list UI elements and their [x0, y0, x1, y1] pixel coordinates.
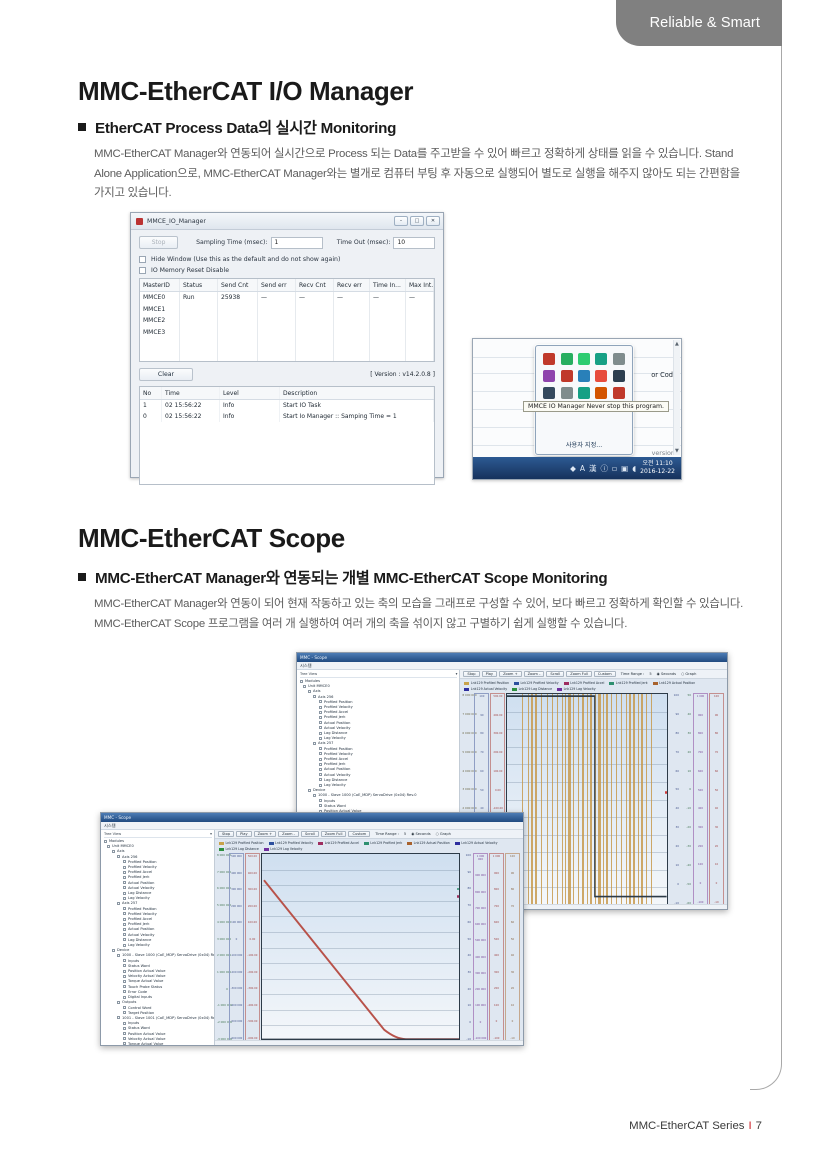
checkbox-icon[interactable]	[313, 695, 316, 698]
axis-tick-label: 8 000 000	[462, 694, 474, 697]
master-status-grid[interactable]: MasterID Status Send Cnt Send err Recv C…	[139, 278, 435, 362]
table-cell	[180, 315, 218, 327]
axis-tick-label: 6 000 000	[217, 887, 229, 890]
axis-tick-label: 20	[710, 845, 723, 848]
axis-tick-label: -20	[680, 826, 692, 829]
io-memory-reset-checkbox[interactable]	[139, 267, 146, 274]
tree-node-label: Inputs	[324, 799, 335, 803]
legend-item: Lnk129 Profiled Position	[464, 681, 509, 685]
col-max-int: Max Int...	[406, 279, 434, 291]
axis-tick-label: 700	[694, 751, 707, 754]
tray-volume-icon[interactable]: ◖	[632, 464, 636, 473]
log-col-desc: Description	[280, 387, 434, 399]
checkbox-icon[interactable]	[123, 970, 126, 973]
axis-tick-label: 600	[694, 770, 707, 773]
scope-toolbar-button-stop[interactable]: Stop	[218, 831, 234, 838]
col-send-err: Send err	[258, 279, 296, 291]
scope-front-tree[interactable]: ModulesUnit MMCE0AxisAxis 256Profiled Po…	[104, 839, 212, 1045]
checkbox-icon[interactable]	[123, 912, 126, 915]
legend-item: Lnk129 Profiled Velocity	[269, 841, 314, 845]
checkbox-icon[interactable]	[319, 763, 322, 766]
scope-toolbar-button-custom[interactable]: Custom	[348, 831, 370, 838]
axis-tick-label: -400.00	[246, 1004, 259, 1007]
legend-label: Lnk129 Profiled Accel	[325, 841, 359, 845]
scope-back-tree-header: Tree View ▾	[300, 672, 457, 678]
table-cell	[258, 327, 296, 339]
axis-tick-label: 300 000	[474, 972, 487, 975]
checkbox-icon[interactable]	[123, 938, 126, 941]
scope-window-front: MMC - Scope 시스템 Tree View ▾ ModulesUnit …	[100, 812, 524, 1046]
axis-tick-label: 70	[710, 751, 723, 754]
tray-monitor-icon[interactable]: ▣	[621, 464, 628, 473]
axis-tick-label: 6 000 000	[462, 732, 474, 735]
axis-tick-label: -200.00	[246, 971, 259, 974]
tray-app-icon-2[interactable]	[561, 353, 573, 365]
axis-tick-label: 300	[694, 826, 707, 829]
tree-node-label: Inputs	[128, 1021, 139, 1025]
scope-back-menu-system[interactable]: 시스템	[300, 663, 312, 669]
cursor-marker[interactable]	[457, 895, 460, 898]
legend-item: Lnk129 Profiled Velocity	[514, 681, 559, 685]
checkbox-icon[interactable]	[123, 1042, 126, 1045]
table-row[interactable]: MMCE0Run25938—————	[140, 292, 434, 304]
checkbox-icon[interactable]	[319, 804, 322, 807]
legend-item: Lnk129 Profiled Accel	[318, 841, 359, 845]
legend-swatch	[464, 688, 469, 691]
scope-toolbar-button-play[interactable]: Play	[482, 671, 498, 678]
axis-tick-label: 200	[694, 845, 707, 848]
header-badge-label: Reliable & Smart	[650, 15, 760, 31]
checkbox-icon[interactable]	[123, 881, 126, 884]
scope-back-plot[interactable]	[506, 693, 668, 906]
axis-tick-label: 5 000 000	[217, 904, 229, 907]
tray-app-icon-3[interactable]	[578, 353, 590, 365]
tray-app-icon-9[interactable]	[595, 370, 607, 382]
tree-node-label: Actual Velocity	[324, 773, 351, 777]
log-cell: 02 15:56:22	[162, 400, 220, 411]
checkbox-icon[interactable]	[123, 860, 126, 863]
axis-tick-label: 70	[460, 904, 472, 907]
checkbox-icon[interactable]	[123, 996, 126, 999]
checkbox-icon[interactable]	[123, 959, 126, 962]
scope-toolbar-button-zoom-full[interactable]: Zoom Full	[321, 831, 347, 838]
axis-tick-label: 50	[506, 938, 519, 941]
checkbox-icon[interactable]	[319, 752, 322, 755]
log-col-level: Level	[220, 387, 280, 399]
log-row[interactable]: 002 15:56:22InfoStart Io Manager :: Samp…	[140, 411, 434, 422]
scope-radio-seconds[interactable]: ◉ Seconds	[657, 672, 676, 676]
checkbox-icon[interactable]	[303, 685, 306, 688]
tray-app-icon-14[interactable]	[595, 387, 607, 399]
col-recv-err: Recv err	[334, 279, 370, 291]
section-body-1: MMC-EtherCAT Manager와 연동되어 실시간으로 Process…	[94, 145, 744, 204]
tree-node-label: Velocity Actual Value	[128, 1037, 166, 1041]
io-manager-window: MMCE_IO_Manager – □ ✕ Stop Sampling Time…	[130, 212, 444, 478]
tray-app-icon-5[interactable]	[613, 353, 625, 365]
axis-tick-label: -500 000	[230, 1020, 243, 1023]
tray-shield-icon[interactable]: ◆	[570, 464, 576, 473]
vertical-scrollbar[interactable]: ▲ ▼	[673, 340, 680, 455]
table-cell	[334, 315, 370, 327]
axis-tick-label: 800	[490, 888, 503, 891]
axis-tick-label: 10	[680, 770, 692, 773]
axis-tick-label: 7 000 000	[217, 871, 229, 874]
checkbox-icon[interactable]	[319, 711, 322, 714]
scope-front-menu-system[interactable]: 시스템	[104, 823, 116, 829]
tree-node-label: Modules	[109, 839, 124, 843]
checkbox-icon[interactable]	[319, 721, 322, 724]
checkbox-icon[interactable]	[313, 742, 316, 745]
legend-label: Lnk129 Profiled Velocity	[521, 681, 559, 685]
checkbox-icon[interactable]	[123, 886, 126, 889]
checkbox-icon[interactable]	[123, 923, 126, 926]
tree-node[interactable]: 1001 - Slave 1001 (CoE_MDP) ServoDrive (…	[104, 1016, 212, 1021]
table-cell: —	[296, 292, 334, 304]
scope-back-tree[interactable]: ModulesUnit MMCE0AxisAxis 256Profiled Po…	[300, 679, 457, 814]
scope-front-legend: Lnk129 Profiled PositionLnk129 Profiled …	[215, 839, 523, 853]
axis-tick-label: 1 000 000	[217, 971, 229, 974]
axis-tick-label: -100.00	[491, 807, 504, 810]
table-cell	[258, 350, 296, 362]
tree-node-label: Position Actual Value	[128, 969, 165, 973]
checkbox-icon[interactable]	[123, 866, 126, 869]
table-row[interactable]: MMCE1	[140, 304, 434, 316]
close-icon[interactable]: ✕	[426, 216, 440, 226]
tray-network-icon[interactable]: ▫	[612, 464, 617, 473]
tray-app-icon-10[interactable]	[613, 370, 625, 382]
checkbox-icon[interactable]	[107, 845, 110, 848]
footer-series: MMC-EtherCAT Series	[629, 1120, 744, 1132]
axis-tick-label: 500.00	[246, 855, 259, 858]
scope-toolbar-button-custom[interactable]: Custom	[594, 671, 616, 678]
axis-tick-label: 100	[475, 695, 488, 698]
checkbox-icon[interactable]	[319, 706, 322, 709]
hide-window-checkbox-row[interactable]: Hide Window (Use this as the default and…	[139, 256, 435, 263]
clear-button[interactable]: Clear	[139, 368, 193, 381]
tray-tooltip: MMCE IO Manager Never stop this program.	[523, 401, 669, 412]
scope-toolbar-button-play[interactable]: Play	[236, 831, 252, 838]
scope-back-yaxis-r3: 1 0009008007006005004003002001000-100	[693, 693, 708, 906]
bullet-square-icon	[78, 123, 86, 131]
axis-tick-label: 100 000	[474, 1004, 487, 1007]
legend-label: Lnk129 Profiled Jerk	[370, 841, 402, 845]
table-row[interactable]	[140, 350, 434, 362]
tree-node-label: Profiled Velocity	[324, 752, 353, 756]
sampling-time-input[interactable]: 1	[271, 237, 323, 249]
tray-customize-link[interactable]: 사용자 지정...	[536, 440, 632, 449]
axis-tick-label: 0	[680, 788, 692, 791]
maximize-icon[interactable]: □	[410, 216, 424, 226]
io-manager-title: MMCE_IO_Manager	[147, 218, 394, 225]
scope-radio-graph[interactable]: ○ Graph	[681, 672, 696, 676]
checkbox-icon[interactable]	[319, 758, 322, 761]
scroll-down-icon[interactable]: ▼	[675, 448, 679, 454]
checkbox-icon[interactable]	[319, 732, 322, 735]
tray-app-icon-4[interactable]	[595, 353, 607, 365]
table-cell	[334, 327, 370, 339]
checkbox-icon[interactable]	[117, 954, 120, 957]
checkbox-icon[interactable]	[308, 789, 311, 792]
checkbox-icon[interactable]	[117, 902, 120, 905]
tray-icon-grid[interactable]	[542, 353, 626, 399]
sampling-time-label: Sampling Time (msec):	[196, 239, 267, 246]
checkbox-icon[interactable]	[319, 747, 322, 750]
io-manager-titlebar[interactable]: MMCE_IO_Manager – □ ✕	[131, 213, 443, 230]
tray-app-icon-6[interactable]	[543, 370, 555, 382]
tree-node[interactable]: 1000 - Slave 1000 (CoE_MDP) ServoDrive (…	[104, 953, 212, 958]
checkbox-icon[interactable]	[319, 778, 322, 781]
axis-tick-label: 30	[710, 826, 723, 829]
table-row[interactable]	[140, 338, 434, 350]
scope-front-yaxis-r2: 1 000 000900 000800 000700 000600 000500…	[473, 853, 488, 1042]
scope-front-menubar[interactable]: 시스템	[101, 822, 523, 830]
axis-tick-label: 3 000 000	[462, 788, 474, 791]
checkbox-icon[interactable]	[319, 716, 322, 719]
tree-node-label: Profiled Velocity	[128, 912, 157, 916]
axis-tick-label: 80	[710, 732, 723, 735]
table-cell	[296, 338, 334, 350]
legend-swatch	[557, 688, 562, 691]
scope-back-menubar[interactable]: 시스템	[297, 662, 727, 670]
pin-icon-2[interactable]: ▾	[210, 832, 212, 836]
table-cell	[406, 327, 434, 339]
table-cell: —	[370, 292, 406, 304]
checkbox-icon[interactable]	[123, 876, 126, 879]
checkbox-icon[interactable]	[123, 990, 126, 993]
axis-tick-label: 50	[710, 789, 723, 792]
log-cell: Start Io Manager :: Samping Time = 1	[280, 411, 434, 422]
axis-tick-label: 60	[460, 921, 472, 924]
tray-app-icon-8[interactable]	[578, 370, 590, 382]
checkbox-icon[interactable]	[319, 726, 322, 729]
tree-node[interactable]: Torque Actual Value	[104, 1042, 212, 1045]
legend-item: Lnk129 Profiled Accel	[564, 681, 605, 685]
scope-toolbar-button-zoom-[interactable]: Zoom +	[499, 671, 522, 678]
axis-tick-label: -10	[680, 807, 692, 810]
axis-tick-label: 40	[460, 954, 472, 957]
table-cell	[180, 338, 218, 350]
checkbox-icon[interactable]	[123, 871, 126, 874]
checkbox-icon[interactable]	[123, 933, 126, 936]
tree-node-label: Actual Position	[324, 767, 350, 771]
tray-ime-a-icon[interactable]: A	[580, 464, 585, 473]
table-cell	[370, 350, 406, 362]
tray-ime-hanja-icon[interactable]: 漢	[589, 463, 597, 474]
checkbox-icon[interactable]	[123, 1027, 126, 1030]
checkbox-icon[interactable]	[123, 964, 126, 967]
taskbar-clock[interactable]: 오전 11:10 2016-12-22	[640, 460, 675, 476]
checkbox-icon[interactable]	[117, 1016, 120, 1019]
table-cell	[370, 304, 406, 316]
checkbox-icon[interactable]	[117, 1001, 120, 1004]
tray-app-icon-11[interactable]	[543, 387, 555, 399]
scope-front-toolbar[interactable]: StopPlayZoom +Zoom -ScrollZoom FullCusto…	[215, 830, 523, 839]
stop-button[interactable]: Stop	[139, 236, 178, 249]
axis-tick-label: 30	[668, 826, 680, 829]
axis-tick-label: 0	[506, 1020, 519, 1023]
axis-tick-label: 400 000	[474, 956, 487, 959]
checkbox-icon[interactable]	[123, 918, 126, 921]
scope-toolbar-button-zoom-[interactable]: Zoom -	[524, 671, 545, 678]
table-row[interactable]: MMCE3	[140, 327, 434, 339]
axis-tick-label: 900	[694, 714, 707, 717]
table-cell	[180, 350, 218, 362]
checkbox-icon[interactable]	[123, 980, 126, 983]
tray-app-icon-1[interactable]	[543, 353, 555, 365]
scope-front-hscrollbar[interactable]	[215, 1040, 523, 1045]
scope-front-tree-panel[interactable]: Tree View ▾ ModulesUnit MMCE0AxisAxis 25…	[101, 830, 215, 1045]
tree-node-label: Target Position	[128, 1011, 154, 1015]
scope-back-toolbar[interactable]: StopPlayZoom +Zoom -ScrollZoom FullCusto…	[460, 670, 727, 679]
checkbox-icon[interactable]	[117, 855, 120, 858]
scope-front-titlebar[interactable]: MMC - Scope	[101, 813, 523, 822]
table-cell	[140, 338, 180, 350]
checkbox-icon[interactable]	[319, 773, 322, 776]
checkbox-icon[interactable]	[319, 700, 322, 703]
legend-label: Lnk129 Profiled Position	[471, 681, 509, 685]
scroll-up-icon[interactable]: ▲	[675, 341, 679, 347]
axis-tick-label: 500.00	[491, 695, 504, 698]
checkbox-icon[interactable]	[300, 680, 303, 683]
pin-icon[interactable]: ▾	[456, 672, 458, 676]
table-cell	[180, 304, 218, 316]
tray-help-icon[interactable]: ⓘ	[600, 463, 608, 474]
checkbox-icon[interactable]	[123, 897, 126, 900]
axis-tick-label: 300	[490, 971, 503, 974]
scope-radio-seconds[interactable]: ◉ Seconds	[411, 832, 430, 836]
log-cell: Info	[220, 400, 280, 411]
tree-node-label: Profiled Velocity	[128, 865, 157, 869]
log-cell: 1	[140, 400, 162, 411]
axis-tick-label: -40	[680, 864, 692, 867]
checkbox-icon[interactable]	[123, 1032, 126, 1035]
minimize-icon[interactable]: –	[394, 216, 408, 226]
axis-tick-label: 80	[460, 887, 472, 890]
tree-node-label: Modules	[305, 679, 320, 683]
scope-toolbar-button-stop[interactable]: Stop	[463, 671, 479, 678]
axis-tick-label: 200	[490, 987, 503, 990]
tree-node-label: Profiled Position	[324, 747, 353, 751]
scope-toolbar-button-zoom-[interactable]: Zoom -	[278, 831, 299, 838]
table-cell	[258, 315, 296, 327]
tree-node-label: Actual Position	[324, 721, 350, 725]
scope-front-yaxis-1: 8 000 0007 000 0006 000 0005 000 0004 00…	[217, 853, 229, 1042]
hide-window-checkbox[interactable]	[139, 256, 146, 263]
checkbox-icon[interactable]	[319, 737, 322, 740]
tray-app-icon-7[interactable]	[561, 370, 573, 382]
checkbox-icon[interactable]	[112, 949, 115, 952]
tree-node-label: Axis 257	[122, 901, 137, 905]
scope-toolbar-button-zoom-full[interactable]: Zoom Full	[566, 671, 592, 678]
legend-item: Lnk129 Lag Distance	[512, 687, 552, 691]
checkbox-icon[interactable]	[123, 1037, 126, 1040]
tree-node-label: Position Actual Value	[128, 1032, 165, 1036]
axis-tick-label: -1 000 000	[217, 1004, 229, 1007]
log-row[interactable]: 102 15:56:22InfoStart IO Task	[140, 400, 434, 411]
axis-tick-label: 300.00	[246, 888, 259, 891]
scope-radio-graph[interactable]: ○ Graph	[436, 832, 451, 836]
axis-tick-label: 50	[680, 694, 692, 697]
scope-front-plot[interactable]	[261, 853, 460, 1042]
axis-tick-label: 50	[475, 789, 488, 792]
tray-app-icon-13[interactable]	[578, 387, 590, 399]
clear-version-row: Clear [ Version : v14.2.0.8 ]	[139, 368, 435, 381]
table-cell	[406, 315, 434, 327]
table-cell: —	[334, 292, 370, 304]
checkbox-icon[interactable]	[123, 985, 126, 988]
tray-popup-window: or Code version ▲ ▼ 사용자 지정... MMCE IO Ma…	[472, 338, 682, 480]
axis-tick-label: 100.00	[246, 921, 259, 924]
cursor-marker[interactable]	[665, 791, 668, 794]
checkbox-icon[interactable]	[123, 944, 126, 947]
axis-tick-label: 90	[475, 714, 488, 717]
time-out-input[interactable]: 10	[393, 237, 435, 249]
checkbox-icon[interactable]	[123, 1006, 126, 1009]
scope-toolbar-button-zoom-[interactable]: Zoom +	[254, 831, 277, 838]
legend-swatch	[219, 842, 224, 845]
axis-tick-label: 8 000 000	[217, 854, 229, 857]
axis-tick-label: 0	[230, 938, 243, 941]
scope-toolbar-button-scroll[interactable]: Scroll	[546, 671, 564, 678]
table-cell	[218, 338, 258, 350]
checkbox-icon[interactable]	[123, 975, 126, 978]
log-cell: 0	[140, 411, 162, 422]
scope-back-titlebar[interactable]: MMC - Scope	[297, 653, 727, 662]
checkbox-icon[interactable]	[123, 1022, 126, 1025]
tree-node-label: Profiled Jerk	[128, 875, 149, 879]
checkbox-icon[interactable]	[104, 840, 107, 843]
legend-swatch	[407, 842, 412, 845]
checkbox-icon[interactable]	[308, 690, 311, 693]
table-row[interactable]: MMCE2	[140, 315, 434, 327]
axis-tick-label: 60	[506, 921, 519, 924]
scope-back-legend: Lnk129 Profiled PositionLnk129 Profiled …	[460, 679, 727, 693]
tree-node-label: Status Word	[128, 964, 150, 968]
tree-node-label: Unit MMCE0	[308, 684, 330, 688]
master-status-grid-header: MasterID Status Send Cnt Send err Recv C…	[140, 279, 434, 292]
tree-node-label: Axis 256	[122, 855, 137, 859]
scope-front-title: MMC - Scope	[104, 815, 131, 820]
tree-node-label: Profiled Jerk	[128, 922, 149, 926]
footer-page-number: 7	[756, 1120, 762, 1132]
axis-tick-label: 80	[506, 888, 519, 891]
checkbox-icon[interactable]	[112, 850, 115, 853]
tree-node-label: Error Code	[128, 990, 147, 994]
table-cell	[296, 315, 334, 327]
checkbox-icon[interactable]	[123, 1011, 126, 1014]
checkbox-icon[interactable]	[319, 784, 322, 787]
checkbox-icon[interactable]	[123, 892, 126, 895]
axis-tick-label: 70	[475, 751, 488, 754]
checkbox-icon[interactable]	[319, 799, 322, 802]
io-memory-reset-checkbox-row[interactable]: IO Memory Reset Disable	[139, 267, 435, 274]
page-title-1: MMC-EtherCAT I/O Manager	[78, 76, 413, 107]
log-grid[interactable]: No Time Level Description 102 15:56:22In…	[139, 386, 435, 485]
checkbox-icon[interactable]	[319, 768, 322, 771]
tray-app-icon-12[interactable]	[561, 387, 573, 399]
axis-tick-label: 100	[490, 1004, 503, 1007]
checkbox-icon[interactable]	[123, 907, 126, 910]
tree-node-label: Axis 256	[318, 695, 333, 699]
scope-toolbar-button-scroll[interactable]: Scroll	[301, 831, 319, 838]
legend-item: Lnk129 Profiled Position	[219, 841, 264, 845]
checkbox-icon[interactable]	[123, 928, 126, 931]
tray-app-icon-15[interactable]	[613, 387, 625, 399]
scope-front-yaxis-r3: 1 0009008007006005004003002001000-100	[489, 853, 504, 1042]
checkbox-icon[interactable]	[313, 794, 316, 797]
scope-front-body: Tree View ▾ ModulesUnit MMCE0AxisAxis 25…	[101, 830, 523, 1045]
axis-tick-label: 2 000 000	[462, 807, 474, 810]
